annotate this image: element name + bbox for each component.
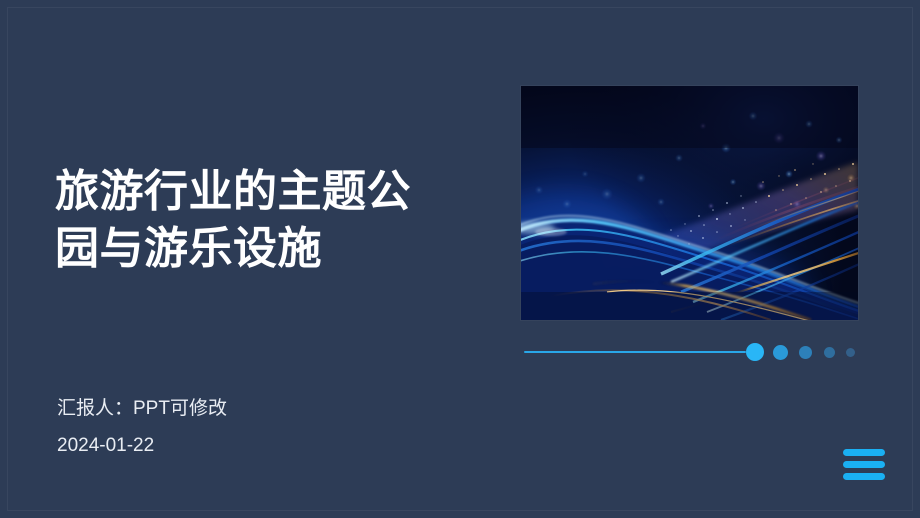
presentation-slide: 旅游行业的主题公 园与游乐设施 汇报人：PPT可修改 2024-01-22 bbox=[0, 0, 920, 518]
page-title: 旅游行业的主题公 园与游乐设施 bbox=[55, 163, 475, 277]
progress-dot-4[interactable] bbox=[824, 347, 835, 358]
hamburger-menu-icon[interactable] bbox=[843, 449, 885, 481]
hero-image-artwork bbox=[521, 86, 858, 320]
title-line-2: 园与游乐设施 bbox=[55, 220, 475, 277]
presenter-label: 汇报人：PPT可修改 bbox=[57, 390, 227, 427]
slide-meta: 汇报人：PPT可修改 2024-01-22 bbox=[57, 390, 227, 464]
progress-dot-1[interactable] bbox=[746, 343, 764, 361]
menu-bar-bottom bbox=[843, 473, 885, 480]
date-label: 2024-01-22 bbox=[57, 427, 227, 464]
progress-dot-3[interactable] bbox=[799, 346, 812, 359]
menu-bar-middle bbox=[843, 461, 885, 468]
progress-line bbox=[524, 351, 746, 353]
menu-bar-top bbox=[843, 449, 885, 456]
slide-progress-indicator[interactable] bbox=[524, 342, 862, 362]
progress-dot-5[interactable] bbox=[846, 348, 855, 357]
title-line-1: 旅游行业的主题公 bbox=[55, 163, 475, 220]
hero-image bbox=[521, 86, 858, 320]
progress-dot-2[interactable] bbox=[773, 345, 788, 360]
